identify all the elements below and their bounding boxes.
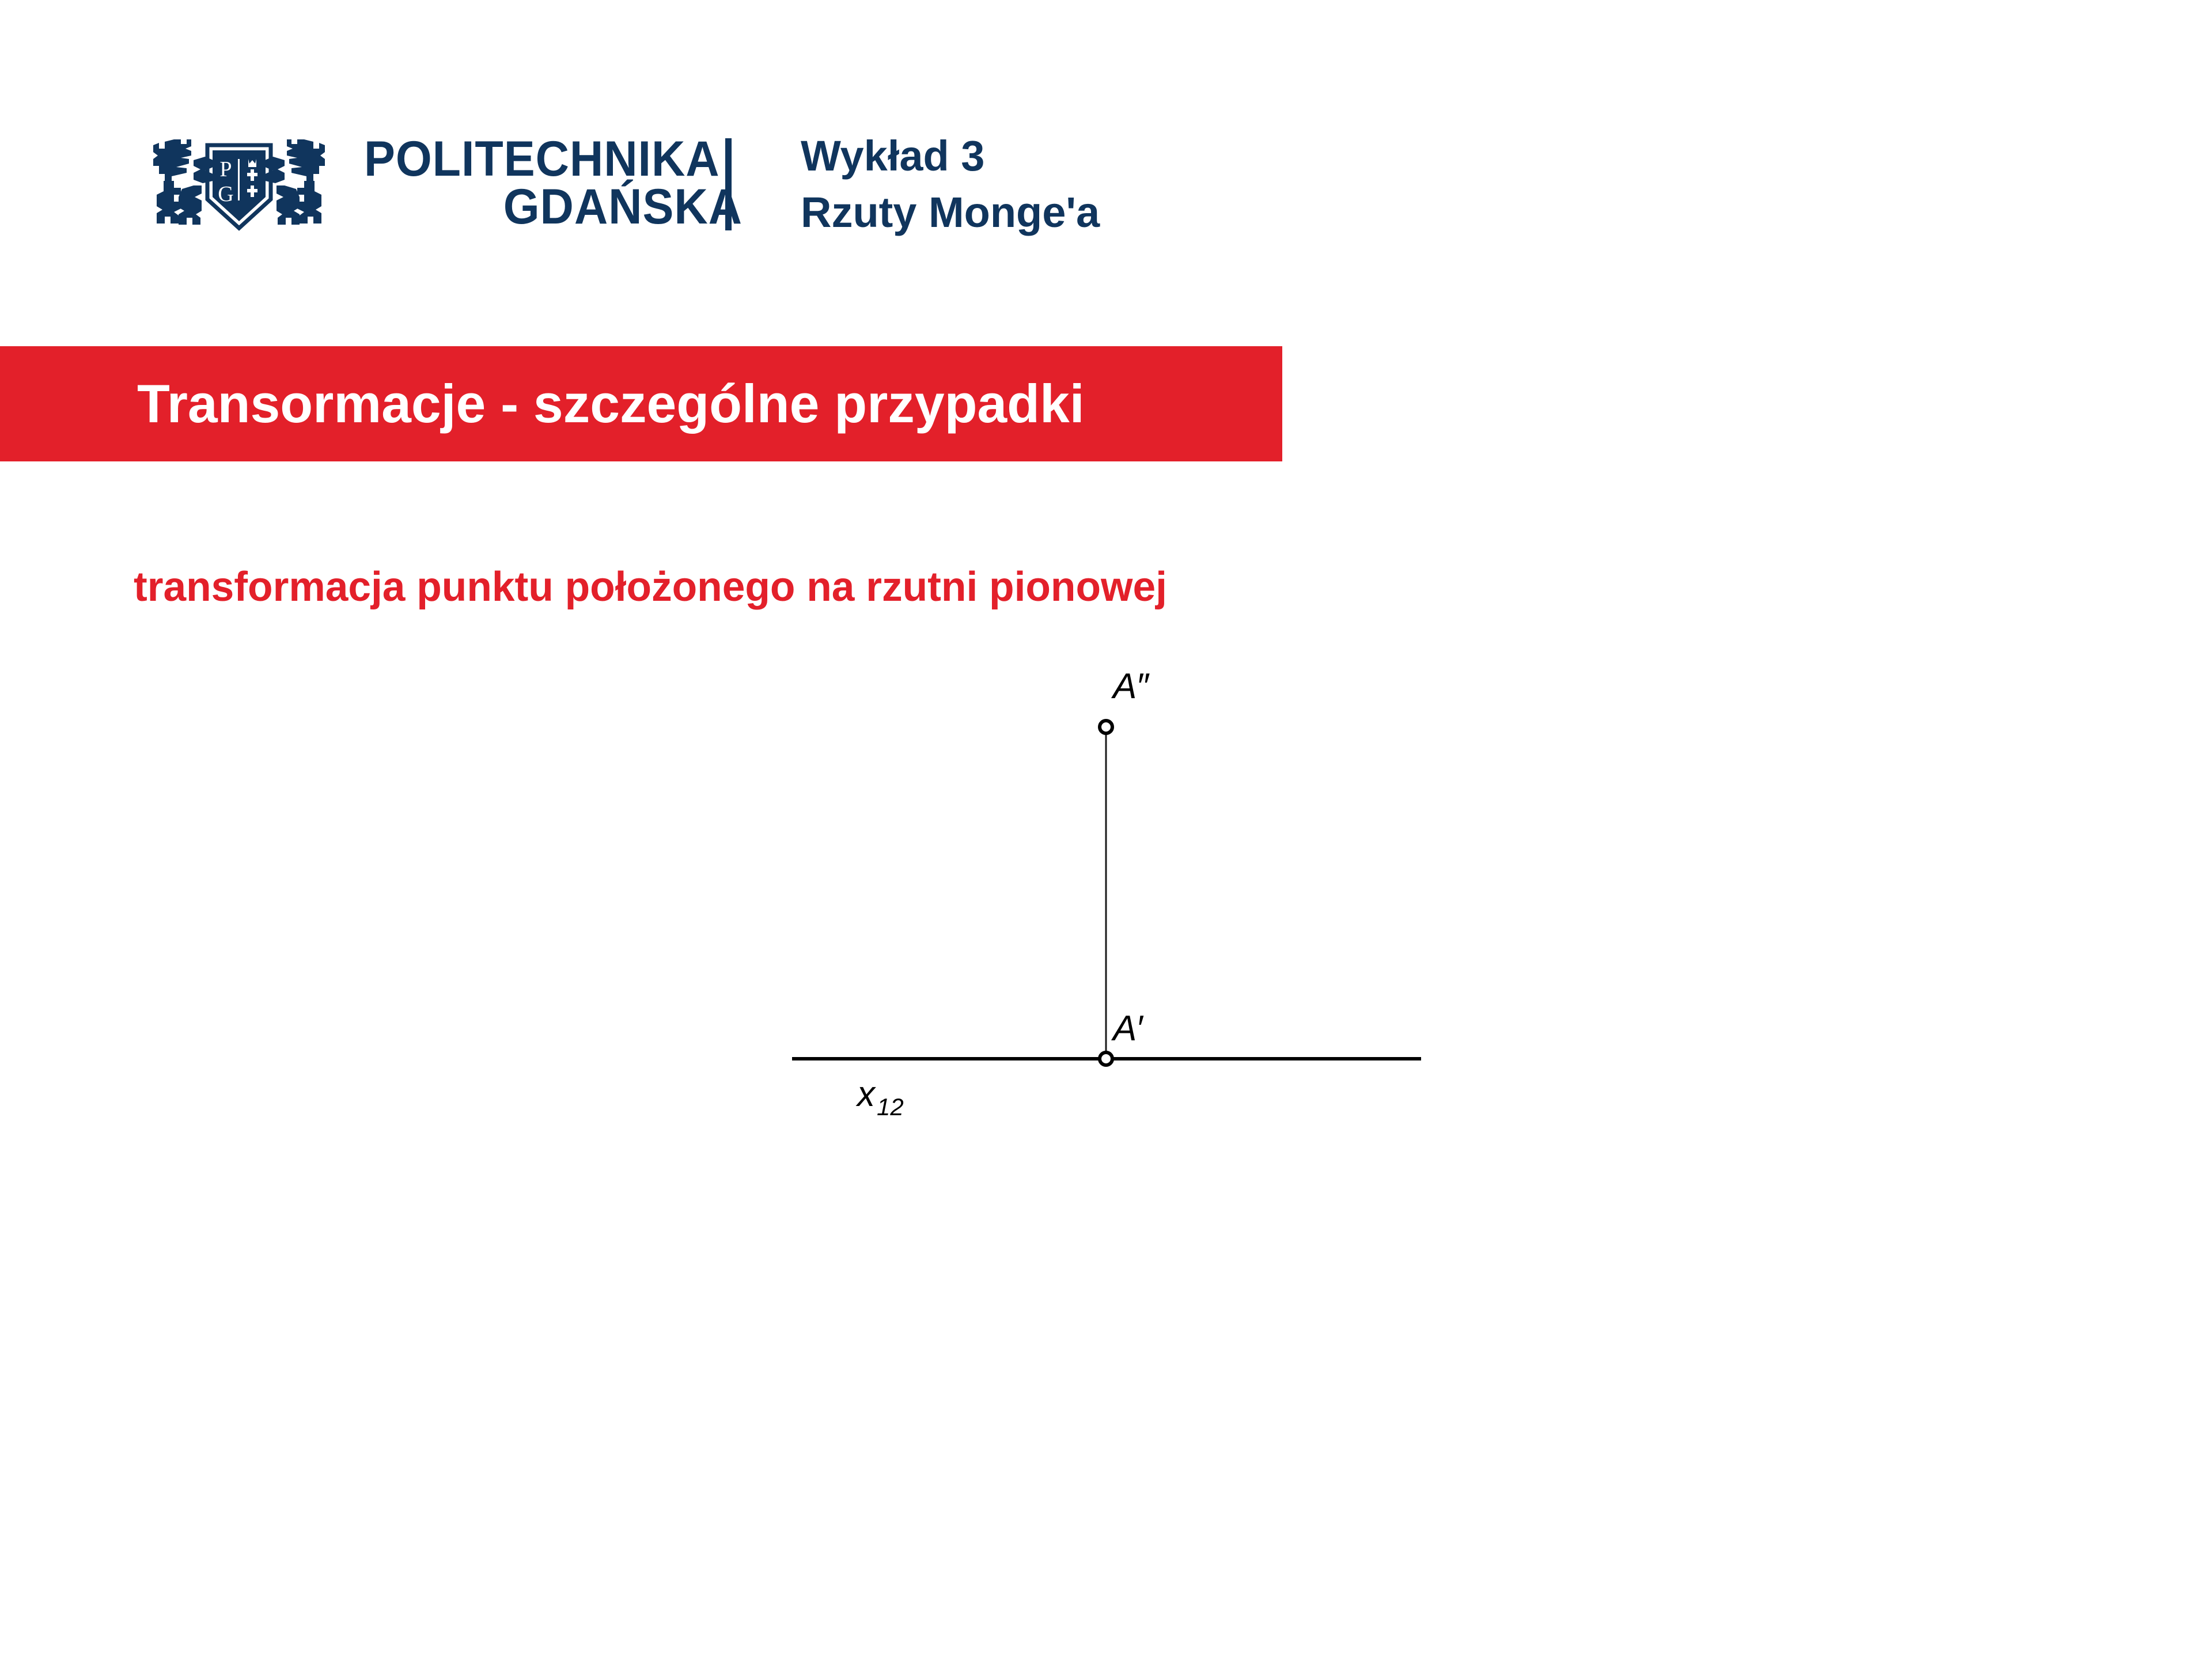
label-a-first: A ′	[1111, 1009, 1144, 1048]
pg-wordmark: POLITECHNIKA GDAŃSKA	[364, 128, 743, 238]
page-title: Transormacje - szczególne przypadki	[137, 373, 1085, 435]
svg-text:P: P	[219, 157, 232, 181]
label-axis-x12: x 12	[855, 1074, 904, 1120]
svg-text:G: G	[218, 182, 233, 206]
label-a-first-prime: ′	[1136, 1009, 1144, 1048]
pg-coat-of-arms-icon: P G	[138, 126, 340, 241]
point-marker-a-first	[1100, 1052, 1112, 1065]
pg-wordmark-line-gdanska: GDAŃSKA	[387, 183, 743, 231]
vertical-divider	[725, 138, 732, 230]
lecture-number: Wykład 3	[801, 128, 1607, 184]
label-a-second-prime: ″	[1136, 666, 1150, 706]
label-axis-x: x	[855, 1074, 876, 1114]
section-subtitle: transformacja punktu położonego na rzutn…	[134, 563, 1167, 611]
point-marker-a-second	[1100, 721, 1112, 733]
title-banner: Transormacje - szczególne przypadki	[0, 346, 1282, 461]
pg-logo-lockup: P G POLITECHNIKA GDAŃSKA	[138, 126, 743, 241]
label-a-second-letter: A	[1111, 666, 1137, 706]
monge-projection-diagram: A ″ A ′ x 12	[749, 657, 1475, 1129]
label-a-first-letter: A	[1111, 1009, 1137, 1048]
slide-header: P G POLITECHNIKA GDAŃSKA Wykład 3 Rzuty …	[0, 0, 2212, 346]
lecture-heading: Wykład 3 Rzuty Monge'a	[801, 128, 1607, 240]
label-a-second: A ″	[1111, 666, 1150, 706]
lecture-subject: Rzuty Monge'a	[801, 184, 1607, 241]
pg-wordmark-line-politechnika: POLITECHNIKA	[364, 135, 720, 183]
label-axis-subscript: 12	[877, 1093, 904, 1120]
